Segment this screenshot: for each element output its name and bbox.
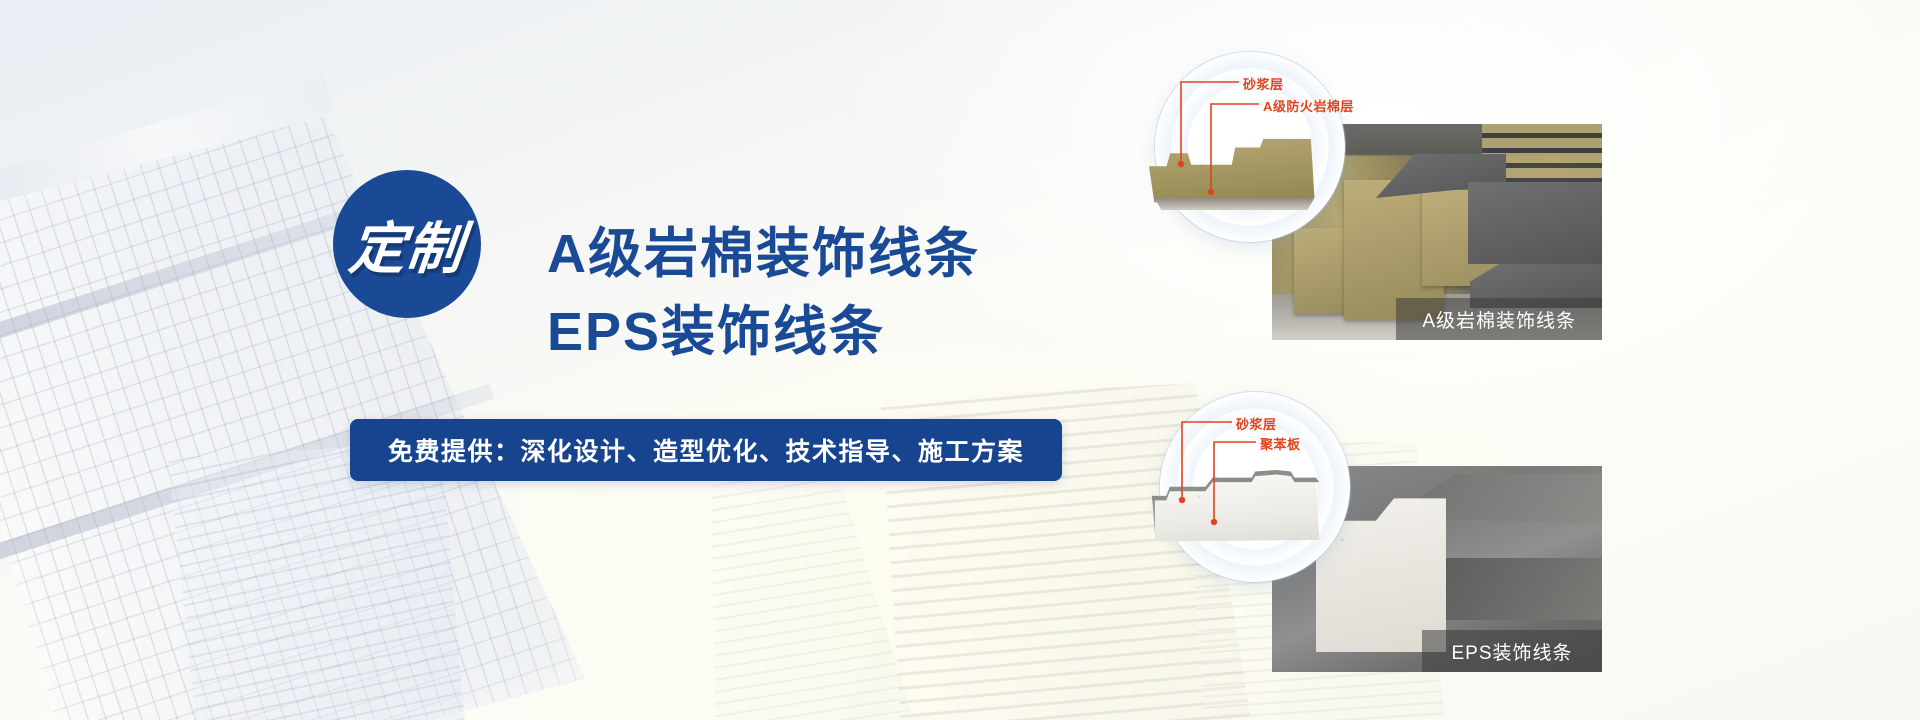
diagram-rockwool: 砂浆层 A级防火岩棉层 [1155, 52, 1345, 242]
product-caption-rockwool: A级岩棉装饰线条 [1396, 298, 1602, 340]
custom-badge: 定制 [333, 170, 481, 318]
eps-callout-label-2: 聚苯板 [1260, 434, 1301, 453]
rockwool-callout-label-1: 砂浆层 [1243, 74, 1284, 93]
product-caption-eps: EPS装饰线条 [1422, 630, 1602, 672]
diagram-eps: 砂浆层 聚苯板 [1160, 392, 1350, 582]
headline-line-1: A级岩棉装饰线条 [547, 215, 1187, 293]
headline-line-2: EPS装饰线条 [547, 293, 1187, 371]
rockwool-cap [1468, 182, 1602, 264]
promo-banner: 免费提供：深化设计、造型优化、技术指导、施工方案 [350, 419, 1062, 481]
promo-banner-text: 免费提供：深化设计、造型优化、技术指导、施工方案 [388, 432, 1024, 468]
banner-stage: 定制 A级岩棉装饰线条 EPS装饰线条 免费提供：深化设计、造型优化、技术指导、… [0, 0, 1920, 720]
custom-badge-label: 定制 [346, 204, 469, 285]
eps-step [1422, 558, 1602, 620]
rockwool-profile-chip [1149, 136, 1325, 208]
rockwool-profile-base [1149, 198, 1325, 210]
eps-callout-label-1: 砂浆层 [1236, 414, 1277, 433]
page-title: A级岩棉装饰线条 EPS装饰线条 [547, 215, 1187, 371]
rockwool-callout-label-2: A级防火岩棉层 [1263, 96, 1354, 115]
